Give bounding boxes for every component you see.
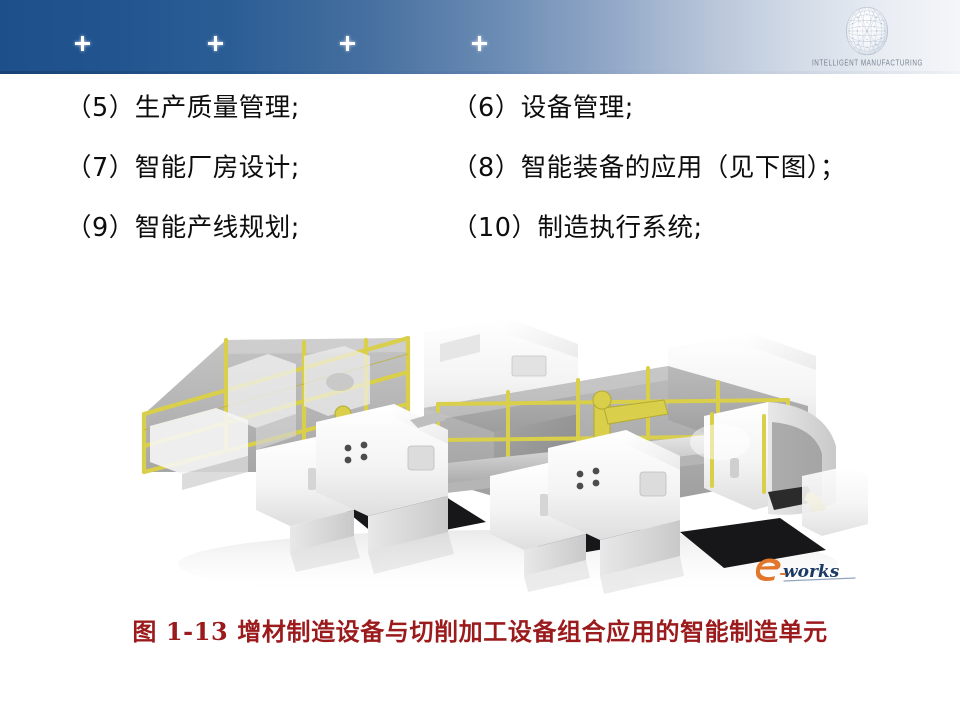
- manufacturing-cell-illustration: [108, 296, 868, 602]
- plus-marker-icon: [472, 36, 487, 51]
- list-row: （5）生产质量管理; （6）设备管理;: [0, 92, 960, 152]
- list-item-8: （8）智能装备的应用（见下图）；: [452, 152, 846, 184]
- wireframe-sphere-icon: [841, 4, 893, 58]
- figure-image: works: [108, 296, 868, 602]
- brand-name-label: INTELLIGENT MANUFACTURING: [812, 59, 922, 68]
- list-item-9: （9）智能产线规划;: [66, 212, 300, 244]
- list-item-7: （7）智能厂房设计;: [66, 152, 300, 184]
- plus-marker-icon: [340, 36, 355, 51]
- brand-logo: INTELLIGENT MANUFACTURING: [812, 4, 922, 70]
- plus-marker-icon: [208, 36, 223, 51]
- list-item-6: （6）设备管理;: [452, 92, 634, 124]
- figure-caption: 图 1-13 增材制造设备与切削加工设备组合应用的智能制造单元: [0, 612, 960, 647]
- list-row: （7）智能厂房设计; （8）智能装备的应用（见下图）；: [0, 152, 960, 212]
- list-item-5: （5）生产质量管理;: [66, 92, 300, 124]
- plus-marker-icon: [75, 36, 90, 51]
- header-underline: [0, 71, 960, 74]
- list-row: （9）智能产线规划; （10）制造执行系统;: [0, 212, 960, 272]
- content-list: （5）生产质量管理; （6）设备管理; （7）智能厂房设计; （8）智能装备的应…: [0, 92, 960, 272]
- slide-canvas: INTELLIGENT MANUFACTURING （5）生产质量管理; （6）…: [0, 0, 960, 720]
- list-item-10: （10）制造执行系统;: [452, 212, 703, 244]
